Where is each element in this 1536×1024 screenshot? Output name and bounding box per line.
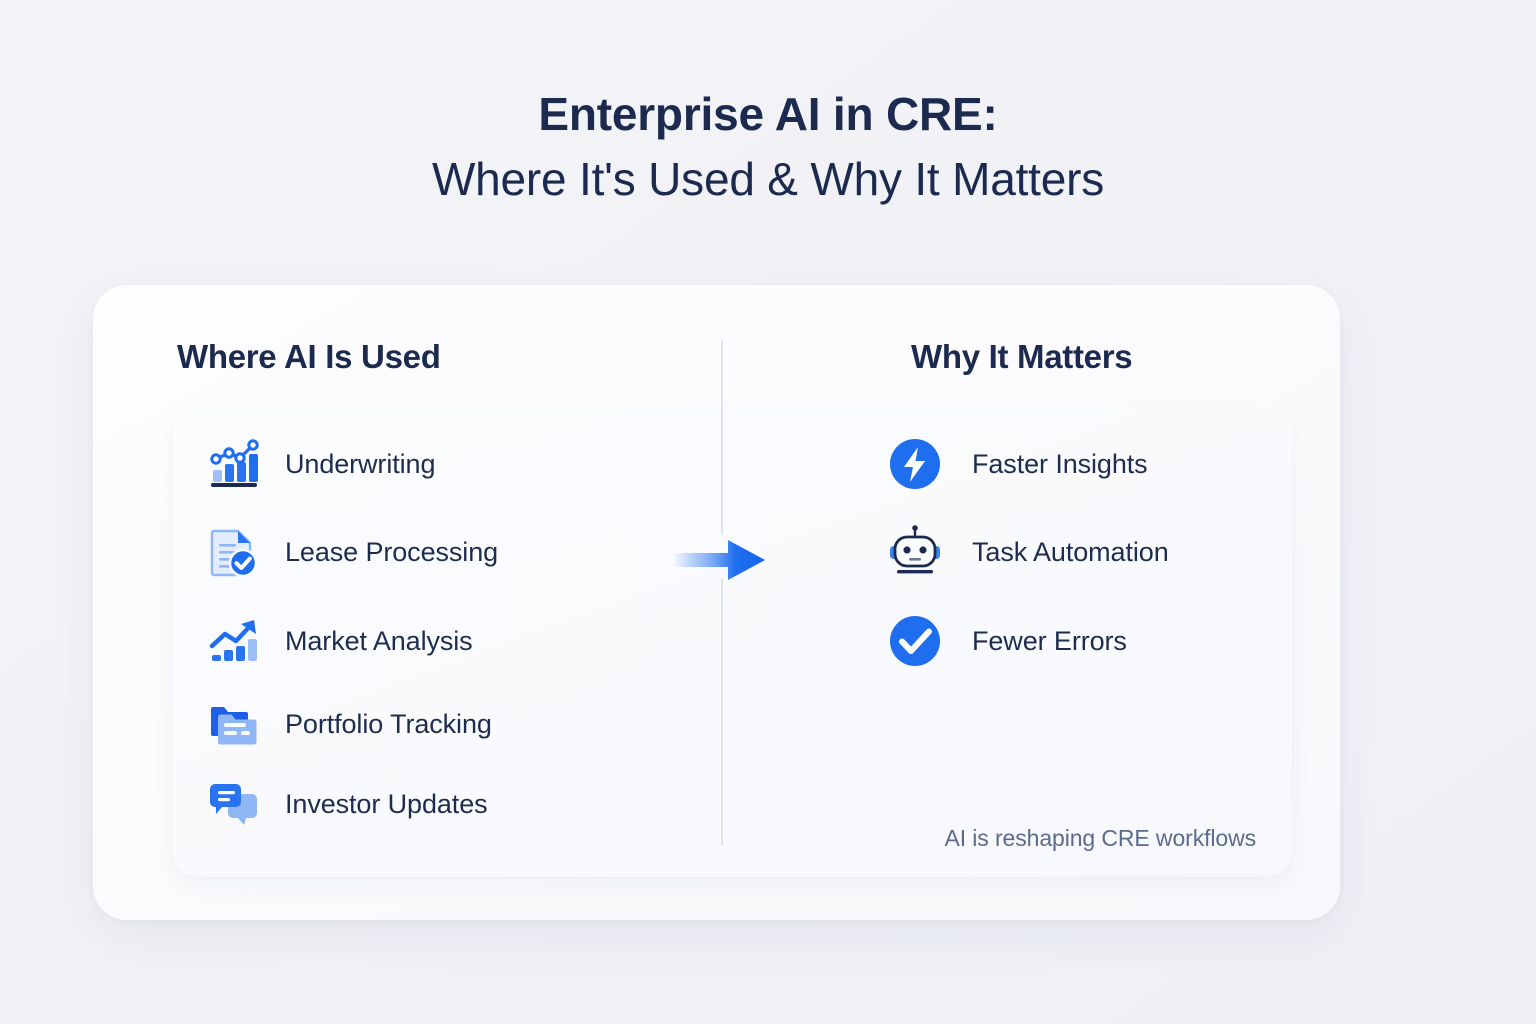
list-item[interactable]: Underwriting [203,434,435,494]
robot-icon [885,522,945,582]
right-column-heading: Why It Matters [911,338,1132,376]
list-item-label: Underwriting [285,449,435,480]
list-item-label: Investor Updates [285,789,488,820]
folders-icon [203,694,263,754]
page-title-line-2: Where It's Used & Why It Matters [0,149,1536,210]
trending-up-icon [203,611,263,671]
list-item-label: Task Automation [972,537,1169,568]
left-column-heading: Where AI Is Used [177,338,441,376]
footer-note: AI is reshaping CRE workflows [944,825,1256,852]
list-item[interactable]: Market Analysis [203,611,473,671]
chat-bubbles-icon [203,774,263,834]
list-item-label: Market Analysis [285,626,473,657]
bar-chart-line-icon [203,434,263,494]
list-item[interactable]: Portfolio Tracking [203,694,492,754]
document-check-icon [203,522,263,582]
page-title: Enterprise AI in CRE: Where It's Used & … [0,86,1536,210]
page-title-line-1: Enterprise AI in CRE: [0,86,1536,143]
column-divider-upper [721,339,723,535]
list-item[interactable]: Fewer Errors [885,611,1127,671]
arrow-right-icon [673,538,767,582]
list-item-label: Portfolio Tracking [285,709,492,740]
column-divider-lower [721,578,723,846]
list-item[interactable]: Faster Insights [885,434,1148,494]
list-item[interactable]: Lease Processing [203,522,498,582]
list-item[interactable]: Task Automation [885,522,1169,582]
list-item-label: Lease Processing [285,537,498,568]
lightning-bolt-icon [885,434,945,494]
list-item[interactable]: Investor Updates [203,774,488,834]
list-item-label: Faster Insights [972,449,1148,480]
list-item-label: Fewer Errors [972,626,1127,657]
check-circle-icon [885,611,945,671]
